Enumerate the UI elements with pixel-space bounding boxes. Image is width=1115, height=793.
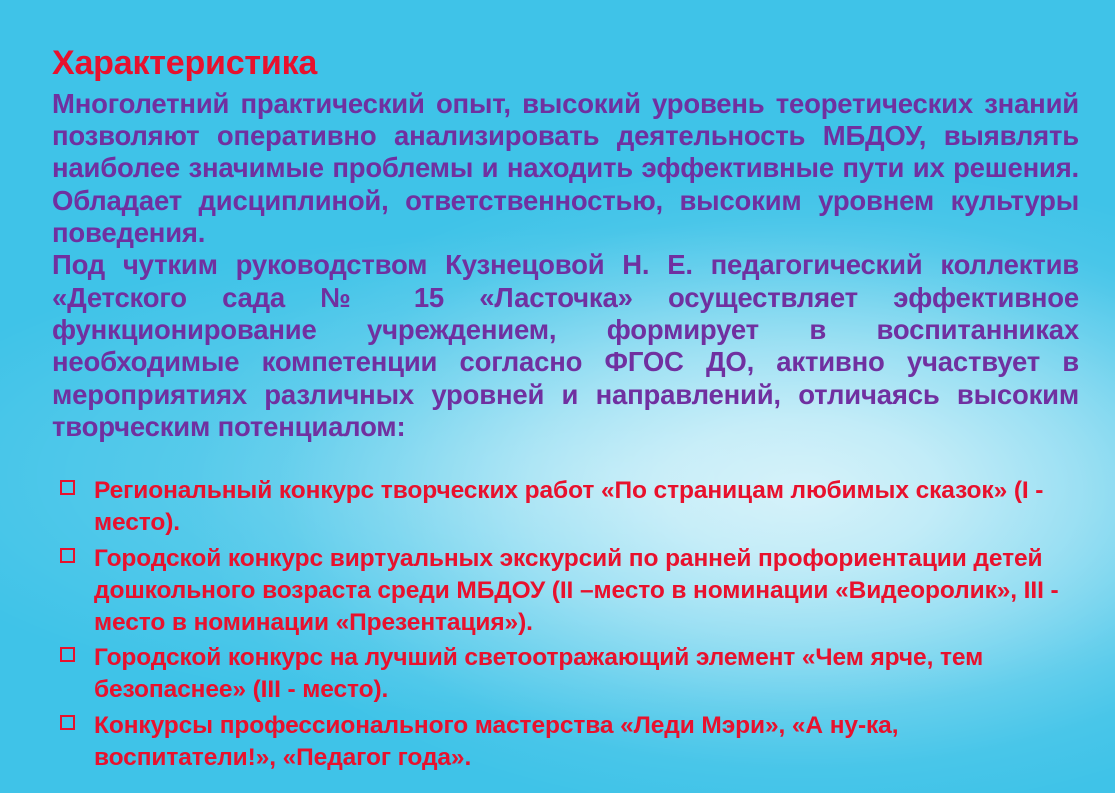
list-item: Конкурсы профессионального мастерства «Л… <box>52 710 1074 774</box>
slide: Характеристика Многолетний практический … <box>0 0 1115 793</box>
slide-content: Характеристика Многолетний практический … <box>0 0 1115 774</box>
award-list: Региональный конкурс творческих работ «П… <box>52 475 1074 774</box>
paragraph-characteristics: Многолетний практический опыт, высокий у… <box>52 88 1079 250</box>
list-item: Городской конкурс на лучший светоотражаю… <box>52 642 1074 706</box>
hollow-square-bullet-icon <box>60 548 75 563</box>
award-item-label: Региональный конкурс творческих работ «П… <box>94 475 1074 539</box>
slide-title: Характеристика <box>52 46 1082 82</box>
award-item-label: Конкурсы профессионального мастерства «Л… <box>94 710 1074 774</box>
hollow-square-bullet-icon <box>60 647 75 662</box>
hollow-square-bullet-icon <box>60 715 75 730</box>
award-item-label: Городской конкурс виртуальных экскурсий … <box>94 543 1074 639</box>
hollow-square-bullet-icon <box>60 480 75 495</box>
award-item-label: Городской конкурс на лучший светоотражаю… <box>94 642 1074 706</box>
list-item: Городской конкурс виртуальных экскурсий … <box>52 543 1074 639</box>
body-text-block: Многолетний практический опыт, высокий у… <box>52 88 1082 443</box>
paragraph-leadership: Под чутким руководством Кузнецовой Н. Е.… <box>52 249 1079 443</box>
list-item: Региональный конкурс творческих работ «П… <box>52 475 1074 539</box>
